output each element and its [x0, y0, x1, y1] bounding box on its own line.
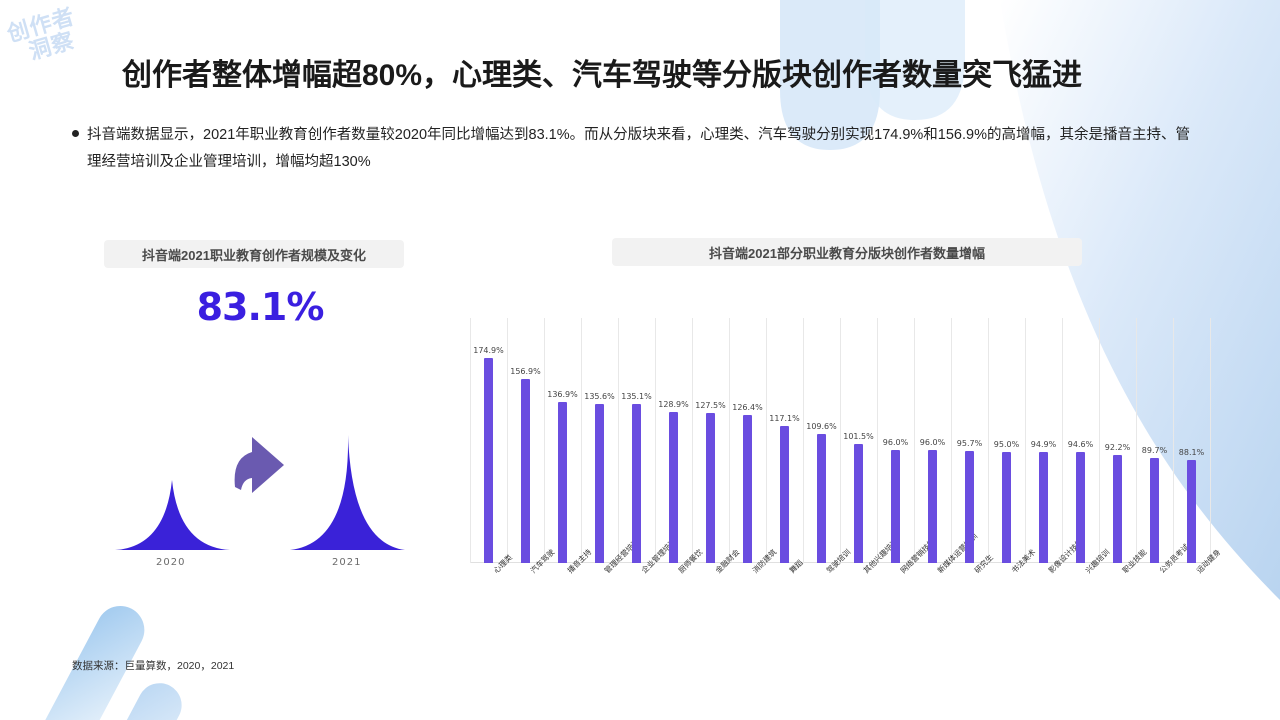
bar-value-label: 135.6% — [582, 392, 618, 401]
bar — [743, 415, 752, 563]
bar — [1076, 452, 1085, 563]
grid-line — [1099, 318, 1100, 563]
brand-watermark: 创作者 洞察 — [5, 5, 84, 68]
page-title: 创作者整体增幅超80%，心理类、汽车驾驶等分版块创作者数量突飞猛进 — [122, 50, 1082, 94]
grid-line — [803, 318, 804, 563]
left-chart-panel: 83.1% 2020 2021 — [60, 275, 460, 575]
bar-value-label: 89.7% — [1137, 446, 1173, 455]
left-chart-header: 抖音端2021职业教育创作者规模及变化 — [104, 240, 404, 268]
bar — [669, 412, 678, 563]
bar-value-label: 94.6% — [1063, 440, 1099, 449]
category-label: 心理类 — [491, 552, 515, 576]
bar-value-label: 174.9% — [471, 346, 507, 355]
bar — [817, 434, 826, 563]
bar — [1039, 452, 1048, 563]
year-label-2020: 2020 — [156, 557, 185, 568]
grid-line — [692, 318, 693, 563]
bar-2020 — [115, 480, 230, 550]
bar — [632, 404, 641, 563]
bar-value-label: 136.9% — [545, 390, 581, 399]
bar — [521, 379, 530, 563]
bar-2021 — [290, 435, 405, 550]
grid-line — [1173, 318, 1174, 563]
growth-bar-chart: 174.9%心理类156.9%汽车驾驶136.9%播音主持135.6%管理经营培… — [470, 318, 1210, 563]
summary-text: 抖音端数据显示，2021年职业教育创作者数量较2020年同比增幅达到83.1%。… — [87, 122, 1202, 176]
right-chart-header: 抖音端2021部分职业教育分版块创作者数量增幅 — [612, 238, 1082, 266]
bar-chart-plot-area: 174.9%心理类156.9%汽车驾驶136.9%播音主持135.6%管理经营培… — [470, 318, 1210, 563]
bar-value-label: 128.9% — [656, 400, 692, 409]
bar — [706, 413, 715, 563]
bullet-dot-icon — [72, 130, 79, 137]
bar-value-label: 117.1% — [767, 414, 803, 423]
bar — [891, 450, 900, 563]
grid-line — [581, 318, 582, 563]
category-label: 研究生 — [972, 552, 996, 576]
bar — [484, 358, 493, 563]
bar-value-label: 96.0% — [878, 438, 914, 447]
year-label-2021: 2021 — [332, 557, 361, 568]
grid-line — [729, 318, 730, 563]
bar — [1187, 460, 1196, 563]
grid-line — [1210, 318, 1211, 563]
up-arrow-icon — [235, 437, 284, 493]
bar — [595, 404, 604, 563]
grid-line — [507, 318, 508, 563]
bar-value-label: 88.1% — [1174, 448, 1210, 457]
grid-line — [618, 318, 619, 563]
bar-value-label: 95.0% — [989, 440, 1025, 449]
grid-line — [470, 318, 471, 563]
bar — [558, 402, 567, 563]
bar — [965, 451, 974, 563]
bar-value-label: 94.9% — [1026, 440, 1062, 449]
bar — [1150, 458, 1159, 563]
bar-value-label: 109.6% — [804, 422, 840, 431]
bar-value-label: 126.4% — [730, 403, 766, 412]
bar-value-label: 135.1% — [619, 392, 655, 401]
bar — [780, 426, 789, 563]
bar-value-label: 95.7% — [952, 439, 988, 448]
bar — [928, 450, 937, 563]
bar-value-label: 96.0% — [915, 438, 951, 447]
grid-line — [766, 318, 767, 563]
summary-bullet: 抖音端数据显示，2021年职业教育创作者数量较2020年同比增幅达到83.1%。… — [72, 122, 1202, 176]
growth-value: 83.1% — [60, 285, 460, 329]
grid-line — [655, 318, 656, 563]
bar-value-label: 92.2% — [1100, 443, 1136, 452]
bar-value-label: 101.5% — [841, 432, 877, 441]
bar — [1002, 452, 1011, 564]
bar — [854, 444, 863, 563]
data-source-note: 数据来源：巨量算数，2020，2021 — [72, 658, 234, 673]
bar — [1113, 455, 1122, 563]
bar-value-label: 156.9% — [508, 367, 544, 376]
grid-line — [1136, 318, 1137, 563]
bar-value-label: 127.5% — [693, 401, 729, 410]
grid-line — [544, 318, 545, 563]
